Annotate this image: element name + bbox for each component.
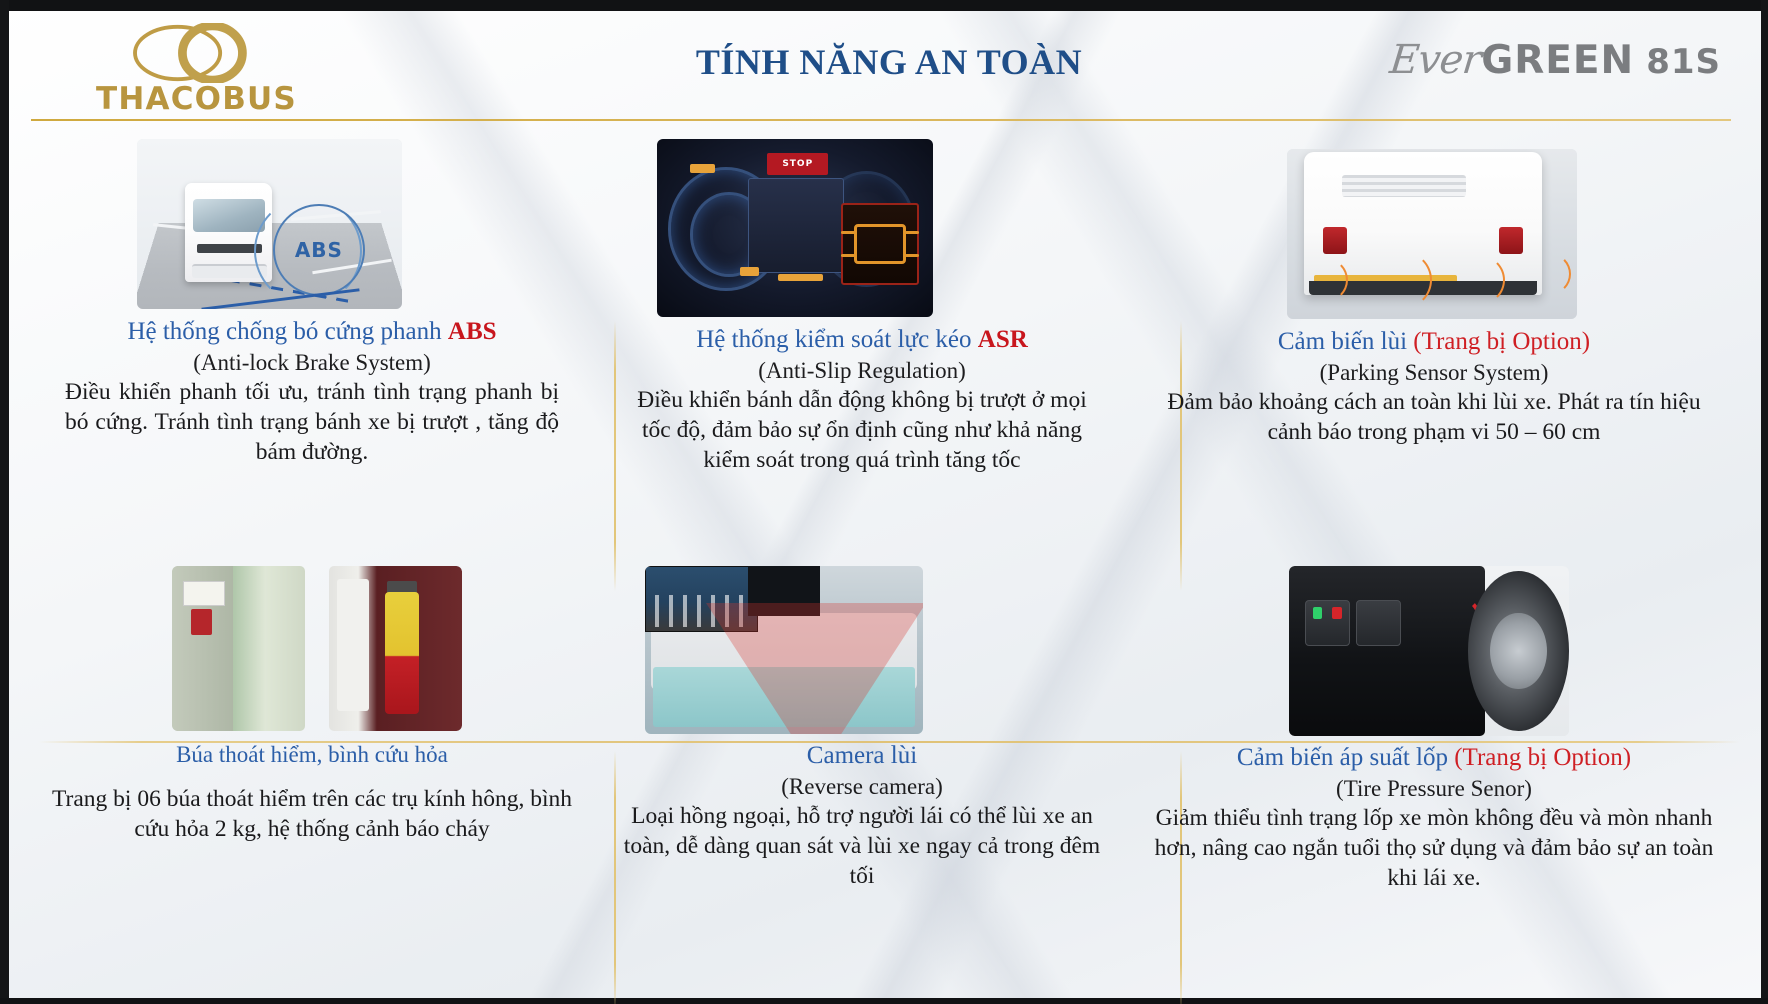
feature-subtitle: (Anti-lock Brake System) [27, 349, 597, 377]
right-black-band [1761, 0, 1768, 1004]
feature-title-accent: (Trang bị Option) [1413, 328, 1590, 355]
model-bold-text: GREEN [1481, 38, 1634, 83]
feature-title: Hệ thống chống bó cứng phanh ABS [27, 317, 597, 347]
feature-card-parking-sensor: Cảm biến lùi (Trang bị Option) (Parking … [1127, 121, 1741, 559]
page-title: TÍNH NĂNG AN TOÀN [449, 41, 1329, 83]
feature-subtitle: (Reverse camera) [605, 773, 1119, 801]
feature-title: Camera lùi [605, 741, 1119, 771]
slide-header: THACOBUS TÍNH NĂNG AN TOÀN Ever GREEN 81… [9, 11, 1761, 121]
parking-sensor-rear-bus-image [1287, 149, 1577, 319]
tire-pressure-sensor-panel-image [1289, 566, 1569, 736]
reverse-camera-monitor-image [645, 566, 923, 734]
feature-body: Giảm thiểu tình trạng lốp xe mòn không đ… [1127, 803, 1741, 893]
thaco-bus-logo: THACOBUS [64, 23, 329, 115]
abs-badge-label: ABS [273, 204, 365, 296]
feature-title-accent: (Trang bị Option) [1454, 744, 1631, 771]
feature-body: Loại hồng ngoại, hỗ trợ người lái có thể… [605, 801, 1119, 891]
feature-caption: Cảm biến lùi (Trang bị Option) (Parking … [1127, 327, 1741, 447]
feature-title-main: Hệ thống chống bó cứng phanh [127, 318, 447, 345]
feature-subtitle: (Tire Pressure Senor) [1127, 775, 1741, 803]
thaco-double-oval-icon [126, 23, 264, 83]
feature-subtitle: (Anti-Slip Regulation) [605, 357, 1119, 385]
feature-card-reverse-camera: Camera lùi (Reverse camera) Loại hồng ng… [605, 561, 1119, 998]
feature-subtitle: (Parking Sensor System) [1127, 359, 1741, 387]
asr-stop-indicator: STOP [767, 153, 828, 174]
feature-title: Cảm biến áp suất lốp (Trang bị Option) [1127, 743, 1741, 773]
feature-title-main: Hệ thống kiểm soát lực kéo [696, 326, 978, 353]
feature-title-accent: ASR [978, 326, 1028, 353]
feature-card-escape-hammer: Búa thoát hiểm, bình cứu hỏa Trang bị 06… [27, 561, 597, 998]
feature-caption: Cảm biến áp suất lốp (Trang bị Option) (… [1127, 743, 1741, 893]
feature-card-asr: STOP Hệ thống kiể [605, 121, 1119, 559]
feature-body: Điều khiển bánh dẫn động không bị trượt … [605, 385, 1119, 475]
feature-caption: Camera lùi (Reverse camera) Loại hồng ng… [605, 741, 1119, 891]
feature-card-tire-pressure: Cảm biến áp suất lốp (Trang bị Option) (… [1127, 561, 1741, 998]
bottom-black-band [0, 998, 1768, 1004]
top-black-band [0, 0, 1768, 11]
feature-body: Đảm bảo khoảng cách an toàn khi lùi xe. … [1127, 387, 1741, 447]
feature-body: Trang bị 06 búa thoát hiểm trên các trụ … [27, 784, 597, 844]
feature-title-main: Cảm biến áp suất lốp [1237, 744, 1454, 771]
model-script-text: Ever [1387, 37, 1482, 83]
model-number-text: 81S [1646, 42, 1721, 82]
feature-title-main: Cảm biến lùi [1278, 328, 1413, 355]
traction-control-warning-icon [841, 203, 920, 285]
abs-braking-diagram-image: ABS [137, 139, 402, 309]
escape-hammer-fire-extinguisher-image [172, 566, 462, 731]
feature-title: Hệ thống kiểm soát lực kéo ASR [605, 325, 1119, 355]
feature-card-abs: ABS Hệ thống chống bó cứng phanh ABS (An… [27, 121, 597, 559]
slide-root: THACOBUS TÍNH NĂNG AN TOÀN Ever GREEN 81… [0, 0, 1768, 1004]
evergreen-model-logo: Ever GREEN 81S [1390, 37, 1721, 93]
feature-caption: Hệ thống kiểm soát lực kéo ASR (Anti-Sli… [605, 325, 1119, 475]
feature-title-accent: ABS [448, 318, 497, 345]
feature-title: Búa thoát hiểm, bình cứu hỏa [27, 741, 597, 768]
asr-dashboard-cluster-image: STOP [657, 139, 933, 317]
feature-caption: Hệ thống chống bó cứng phanh ABS (Anti-l… [27, 317, 597, 467]
feature-body: Điều khiển phanh tối ưu, tránh tình trạn… [27, 377, 597, 467]
feature-title-main: Camera lùi [807, 742, 917, 769]
feature-title: Cảm biến lùi (Trang bị Option) [1127, 327, 1741, 357]
feature-title-main: Búa thoát hiểm, bình cứu hỏa [176, 742, 448, 767]
left-black-band [0, 0, 9, 1004]
feature-grid: ABS Hệ thống chống bó cứng phanh ABS (An… [9, 121, 1761, 998]
thaco-bus-wordmark: THACOBUS [64, 81, 329, 117]
feature-caption: Búa thoát hiểm, bình cứu hỏa Trang bị 06… [27, 741, 597, 844]
